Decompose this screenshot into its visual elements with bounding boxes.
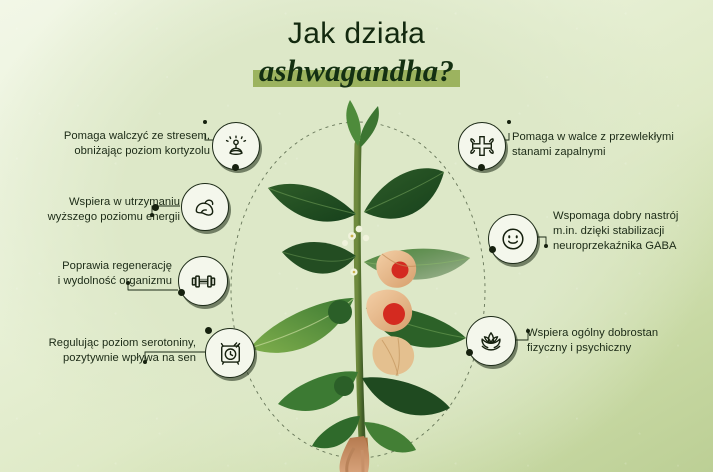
node-dot-wellbeing (466, 349, 473, 356)
node-dot-regeneration (178, 289, 185, 296)
title-line-2: ashwagandha? (259, 53, 454, 89)
label-tick-stress (203, 120, 207, 124)
meditation-icon (223, 133, 249, 159)
alarm-clock-icon-bubble[interactable] (205, 328, 255, 378)
benefit-label-sleep: Regulując poziom serotoniny, pozytywnie … (22, 336, 196, 366)
node-dot-stress (232, 164, 239, 171)
benefit-label-regeneration: Poprawia regenerację i wydolność organiz… (36, 259, 172, 289)
label-tick-energy (150, 213, 154, 217)
node-dot-mood (489, 246, 496, 253)
benefit-label-stress: Pomaga walczyć ze stresem, obniżając poz… (40, 129, 210, 159)
node-dot-sleep (205, 327, 212, 334)
bicep-icon (192, 194, 218, 220)
benefit-label-energy: Wspiera w utrzymaniu wyższego poziomu en… (30, 195, 180, 225)
label-tick-mood (544, 244, 548, 248)
title-line-1: Jak działa (0, 18, 713, 50)
label-tick-wellbeing (526, 329, 530, 333)
smiley-icon (499, 225, 527, 253)
dumbbell-icon-bubble[interactable] (178, 256, 228, 306)
title-line-2-wrapper: ashwagandha? (259, 53, 454, 89)
alarm-clock-icon (217, 340, 244, 367)
node-dot-inflammation (478, 164, 485, 171)
label-tick-inflammation (507, 120, 511, 124)
joint-relief-icon-bubble[interactable] (458, 122, 506, 170)
meditation-icon-bubble[interactable] (212, 122, 260, 170)
label-tick-regeneration (126, 281, 130, 285)
label-tick-sleep (143, 360, 147, 364)
lotus-icon (477, 327, 505, 355)
bicep-icon-bubble[interactable] (181, 183, 229, 231)
lotus-icon-bubble[interactable] (466, 316, 516, 366)
infographic-canvas: Jak działa ashwagandha? (0, 0, 713, 472)
dumbbell-icon (190, 268, 217, 295)
smiley-icon-bubble[interactable] (488, 214, 538, 264)
joint-relief-icon (469, 133, 495, 159)
ashwagandha-plant (232, 86, 492, 472)
benefit-label-mood: Wspomaga dobry nastrój m.in. dzięki stab… (553, 209, 713, 255)
benefit-label-inflammation: Pomaga w walce z przewlekłymi stanami za… (512, 130, 702, 160)
benefit-label-wellbeing: Wspiera ogólny dobrostan fizyczny i psyc… (527, 326, 707, 356)
page-title: Jak działa ashwagandha? (0, 18, 713, 89)
